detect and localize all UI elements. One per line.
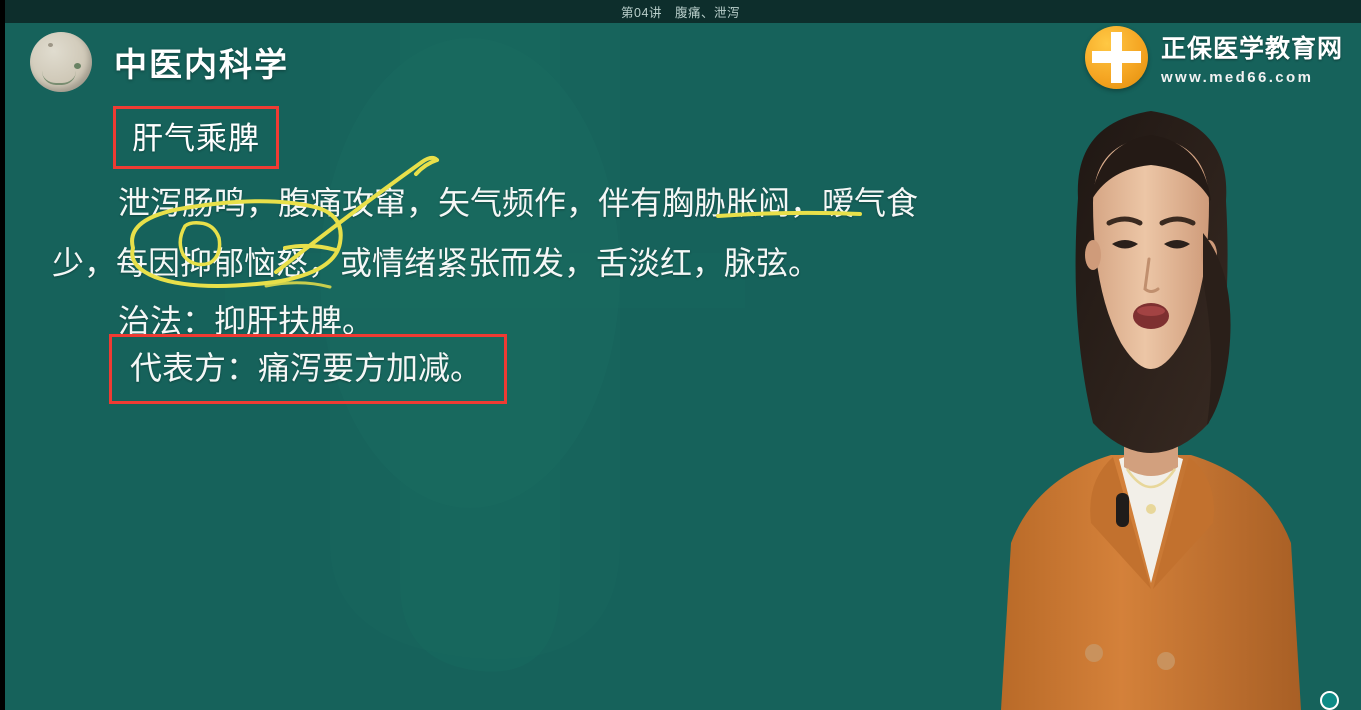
slide-line-1: 泄泻肠鸣，腹痛攻窜，矢气频作，伴有胸胁胀闷，嗳气食 bbox=[118, 178, 918, 224]
dot-speck-one bbox=[48, 43, 53, 47]
diagonal-stroke-annotation bbox=[276, 158, 437, 272]
strike-annotation bbox=[285, 246, 336, 250]
presenter-video bbox=[941, 23, 1361, 710]
brand-logo[interactable]: 正保医学教育网 www.med66.com bbox=[1085, 26, 1343, 89]
prescription-box: 代表方：痛泻要方加减。 bbox=[109, 334, 507, 404]
cross-horizontal-bar bbox=[1092, 51, 1141, 63]
dot-speck-two bbox=[74, 63, 81, 69]
lecture-title: 第04讲 腹痛、泄泻 bbox=[621, 2, 740, 21]
arc-annotation bbox=[266, 283, 330, 287]
slide-line-3: 治法：抑肝扶脾。 bbox=[118, 296, 374, 342]
course-dot-icon bbox=[30, 32, 92, 92]
diagonal-hook-annotation bbox=[416, 160, 437, 174]
slide-line-2: 少，每因抑郁恼怒，或情绪紧张而发，舌淡红，脉弦。 bbox=[52, 238, 820, 284]
slide-content: 肝气乘脾 泄泻肠鸣，腹痛攻窜，矢气频作，伴有胸胁胀闷，嗳气食 少，每因抑郁恼怒，… bbox=[0, 0, 1010, 710]
brand-text-block: 正保医学教育网 www.med66.com bbox=[1161, 29, 1343, 86]
player-badge-icon[interactable] bbox=[1320, 691, 1339, 710]
slide-header: 中医内科学 bbox=[30, 32, 289, 92]
brand-url: www.med66.com bbox=[1161, 69, 1343, 86]
ellipse-annotation bbox=[132, 201, 341, 286]
knowledge-point-heading: 肝气乘脾 bbox=[113, 106, 279, 169]
underline-annotation bbox=[718, 213, 860, 216]
small-circle-annotation bbox=[180, 223, 219, 265]
left-bezel bbox=[0, 0, 5, 710]
lecture-topbar: 第04讲 腹痛、泄泻 bbox=[0, 0, 1361, 23]
lecture-video-frame: 第04讲 腹痛、泄泻 中医内科学 正保医学教育网 www.med66.com 肝… bbox=[0, 0, 1361, 710]
page-title: 中医内科学 bbox=[114, 38, 289, 86]
brand-name: 正保医学教育网 bbox=[1161, 29, 1343, 65]
cross-circle-icon bbox=[1085, 26, 1148, 89]
